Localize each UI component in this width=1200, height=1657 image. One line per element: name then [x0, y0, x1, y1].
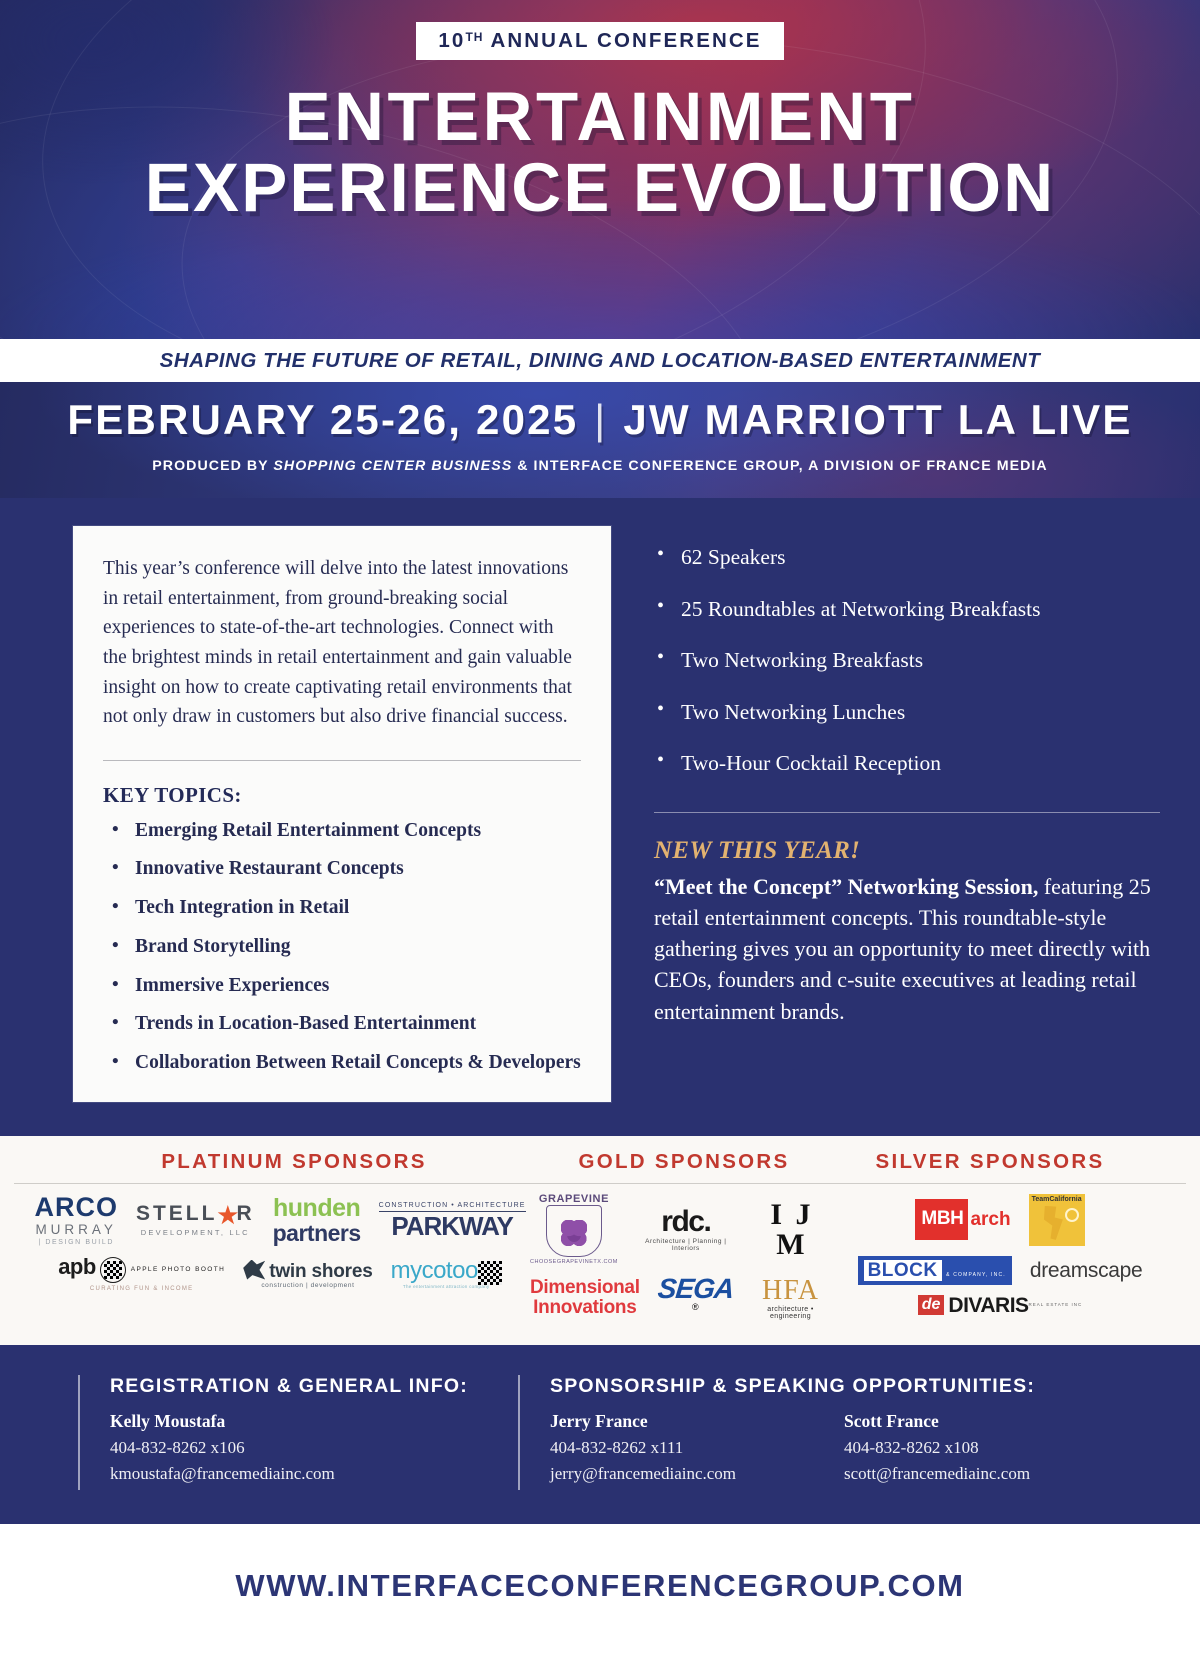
arco-logo-line1: ARCO — [34, 1194, 118, 1221]
twin-shores-mark-icon — [243, 1260, 265, 1280]
platinum-logo-row-2: apb APPLE PHOTO BOOTH CURATING FUN & INC… — [30, 1256, 530, 1292]
intro-card: This year’s conference will delve into t… — [73, 526, 611, 1102]
subtitle-bar: SHAPING THE FUTURE OF RETAIL, DINING AND… — [0, 339, 1200, 382]
key-topics-list: Emerging Retail Entertainment Concepts I… — [103, 818, 581, 1076]
list-item: Brand Storytelling — [103, 934, 581, 973]
contact-phone[interactable]: 404-832-8262 x111 — [550, 1438, 844, 1458]
badge-text: ANNUAL CONFERENCE — [483, 29, 761, 52]
footer-url-bar[interactable]: WWW.INTERFACECONFERENCEGROUP.COM — [0, 1524, 1200, 1644]
gold-sponsors-column: GRAPEVINE CHOOSEGRAPEVINETX.COM rdc. Arc… — [530, 1194, 830, 1331]
date-venue-separator: | — [578, 396, 623, 444]
silver-sponsors-column: MBHarch TeamCalifornia BLOCK — [830, 1194, 1170, 1331]
arco-murray-logo: ARCO MURRAY | DESIGN BUILD — [34, 1194, 118, 1247]
new-this-year-heading: NEW THIS YEAR! — [654, 837, 1160, 865]
apb-logo-subtext: APPLE PHOTO BOOTH — [131, 1266, 225, 1274]
contact-phone[interactable]: 404-832-8262 x106 — [110, 1438, 420, 1458]
silver-sponsors-heading: SILVER SPONSORS — [834, 1150, 1146, 1174]
grapevine-wordmark: GRAPEVINE — [530, 1194, 618, 1205]
produced-by-prefix: PRODUCED BY — [152, 458, 273, 474]
mbh-arch-logo: MBHarch — [915, 1199, 1010, 1240]
grapevine-crest-icon — [546, 1205, 602, 1257]
sponsorship-contact-block: SPONSORSHIP & SPEAKING OPPORTUNITIES: Je… — [518, 1375, 1138, 1490]
date-venue-line: FEBRUARY 25-26, 2025|JW MARRIOTT LA LIVE — [0, 382, 1200, 444]
gold-logo-row-1: GRAPEVINE CHOOSEGRAPEVINETX.COM rdc. Arc… — [530, 1194, 830, 1266]
hfa-wordmark: HFA — [751, 1277, 830, 1305]
contact-email[interactable]: jerry@francemediainc.com — [550, 1464, 844, 1484]
registration-heading: REGISTRATION & GENERAL INFO: — [110, 1375, 518, 1398]
block-tagline: & COMPANY, INC. — [946, 1272, 1006, 1278]
stellar-logo-text-a: STELL — [136, 1202, 218, 1225]
hfa-tagline: architecture • engineering — [751, 1306, 830, 1320]
sponsorship-heading: SPONSORSHIP & SPEAKING OPPORTUNITIES: — [550, 1375, 1138, 1398]
rdc-wordmark: rdc. — [636, 1207, 736, 1237]
list-item: Emerging Retail Entertainment Concepts — [103, 818, 581, 857]
platinum-sponsors-heading: PLATINUM SPONSORS — [54, 1150, 534, 1174]
divaris-logo: de DIVARIS REAL ESTATE INC — [918, 1295, 1082, 1316]
badge-ordinal-suffix: TH — [465, 30, 483, 44]
parkway-logo-tagline: CONSTRUCTION • ARCHITECTURE — [379, 1202, 526, 1209]
divaris-monogram: de — [918, 1295, 945, 1315]
qr-code-icon — [100, 1257, 126, 1283]
apb-logo-wordmark: apb — [58, 1254, 96, 1279]
list-item: 25 Roundtables at Networking Breakfasts — [648, 596, 1160, 648]
dimensional-line1: Dimensional — [530, 1278, 640, 1298]
silver-logo-row-2: BLOCK & COMPANY, INC. dreamscape — [830, 1256, 1170, 1285]
stellar-logo-text-b: R — [236, 1202, 254, 1225]
mbh-arch-wordmark: arch — [970, 1210, 1010, 1229]
mycotoo-tagline: The entertainment attraction company — [391, 1285, 502, 1290]
list-item: Two Networking Lunches — [648, 699, 1160, 751]
mycotoo-logo: mycotoo The entertainment attraction com… — [391, 1259, 502, 1290]
dreamscape-wordmark: dreamscape — [1030, 1260, 1143, 1281]
twin-shores-logo-main: twin shores — [243, 1260, 372, 1281]
contact-name: Jerry France — [550, 1411, 844, 1432]
hero-banner: 10TH ANNUAL CONFERENCE ENTERTAINMENT EXP… — [0, 0, 1200, 339]
list-item: Two Networking Breakfasts — [648, 647, 1160, 699]
page-title: ENTERTAINMENT EXPERIENCE EVOLUTION — [0, 84, 1200, 221]
contact-email[interactable]: kmoustafa@francemediainc.com — [110, 1464, 420, 1484]
grapevine-logo: GRAPEVINE CHOOSEGRAPEVINETX.COM — [530, 1194, 618, 1266]
parkway-logo: CONSTRUCTION • ARCHITECTURE PARKWAY — [379, 1202, 526, 1239]
hfa-logo: HFA architecture • engineering — [751, 1277, 830, 1320]
list-item: Two-Hour Cocktail Reception — [648, 750, 1160, 802]
teamcalifornia-badge: TeamCalifornia — [1029, 1194, 1085, 1246]
sega-wordmark: SEGA — [656, 1275, 734, 1303]
dimensional-innovations-logo: Dimensional Innovations — [530, 1278, 640, 1318]
key-topics-heading: KEY TOPICS: — [103, 783, 581, 808]
sponsors-divider — [14, 1183, 1186, 1184]
arco-logo-line2: MURRAY — [34, 1223, 118, 1237]
mbh-block-wordmark: MBH — [915, 1199, 968, 1240]
subtitle-text: SHAPING THE FUTURE OF RETAIL, DINING AND… — [160, 349, 1041, 372]
contact-section: REGISTRATION & GENERAL INFO: Kelly Moust… — [0, 1345, 1200, 1524]
dreamscape-logo: dreamscape — [1030, 1260, 1143, 1281]
dimensional-line2: Innovations — [530, 1298, 640, 1318]
rdc-logo: rdc. Architecture | Planning | Interiors — [636, 1207, 736, 1252]
star-icon: ★ — [217, 1207, 236, 1226]
title-line-1: ENTERTAINMENT — [0, 84, 1200, 150]
divaris-wordmark: DIVARIS — [948, 1295, 1028, 1316]
highlights-divider — [654, 812, 1160, 813]
platinum-sponsors-column: ARCO MURRAY | DESIGN BUILD STELL★R DEVEL… — [30, 1194, 530, 1331]
contact-person: Kelly Moustafa 404-832-8262 x106 kmousta… — [110, 1411, 420, 1490]
sponsors-section: PLATINUM SPONSORS GOLD SPONSORS SILVER S… — [0, 1136, 1200, 1345]
highlights-list: 62 Speakers 25 Roundtables at Networking… — [648, 544, 1160, 802]
teamcalifornia-logo: TeamCalifornia — [1029, 1194, 1085, 1246]
divaris-tagline: REAL ESTATE INC — [1029, 1303, 1083, 1308]
grapes-icon — [561, 1220, 587, 1246]
list-item: Innovative Restaurant Concepts — [103, 856, 581, 895]
title-line-2: EXPERIENCE EVOLUTION — [0, 155, 1200, 221]
contact-phone[interactable]: 404-832-8262 x108 — [844, 1438, 1138, 1458]
stellar-development-logo: STELL★R DEVELOPMENT, LLC — [136, 1203, 255, 1237]
conference-venue: JW MARRIOTT LA LIVE — [623, 396, 1132, 443]
qr-pattern — [104, 1261, 122, 1279]
stellar-logo-wordmark: STELL★R — [136, 1203, 255, 1226]
produced-by-line: PRODUCED BY SHOPPING CENTER BUSINESS & I… — [0, 458, 1200, 474]
list-item: 62 Speakers — [648, 544, 1160, 596]
main-content: This year’s conference will delve into t… — [0, 498, 1200, 1136]
grapevine-url: CHOOSEGRAPEVINETX.COM — [530, 1260, 618, 1266]
apb-logo-tagline: CURATING FUN & INCOME — [58, 1286, 225, 1292]
contact-email[interactable]: scott@francemediainc.com — [844, 1464, 1138, 1484]
website-url[interactable]: WWW.INTERFACECONFERENCEGROUP.COM — [235, 1568, 964, 1603]
registration-contact-block: REGISTRATION & GENERAL INFO: Kelly Moust… — [78, 1375, 518, 1490]
block-wordmark: BLOCK — [864, 1260, 942, 1281]
highlights-column: 62 Speakers 25 Roundtables at Networking… — [648, 526, 1160, 1027]
intro-paragraph: This year’s conference will delve into t… — [103, 554, 581, 732]
platinum-logo-row-1: ARCO MURRAY | DESIGN BUILD STELL★R DEVEL… — [30, 1194, 530, 1247]
produced-by-suffix: & INTERFACE CONFERENCE GROUP, A DIVISION… — [512, 458, 1047, 474]
stellar-logo-tagline: DEVELOPMENT, LLC — [136, 1229, 255, 1237]
conference-flyer: 10TH ANNUAL CONFERENCE ENTERTAINMENT EXP… — [0, 0, 1200, 1657]
annual-conference-badge: 10TH ANNUAL CONFERENCE — [416, 22, 783, 60]
arco-logo-tagline: | DESIGN BUILD — [34, 1239, 118, 1246]
ijm-wordmark: I J M — [754, 1200, 830, 1260]
list-item: Trends in Location-Based Entertainment — [103, 1011, 581, 1050]
produced-by-publication: SHOPPING CENTER BUSINESS — [273, 458, 512, 474]
rdc-tagline: Architecture | Planning | Interiors — [636, 1239, 736, 1252]
hunden-logo-line1: hunden — [273, 1196, 361, 1221]
contact-person: Jerry France 404-832-8262 x111 jerry@fra… — [550, 1411, 844, 1490]
new-this-year-lead: “Meet the Concept” Networking Session, — [654, 874, 1038, 899]
contact-person: Scott France 404-832-8262 x108 scott@fra… — [844, 1411, 1138, 1490]
apple-photo-booth-logo: apb APPLE PHOTO BOOTH CURATING FUN & INC… — [58, 1256, 225, 1292]
hunden-partners-logo: hunden partners — [273, 1196, 361, 1245]
ijm-logo: I J M — [754, 1200, 830, 1260]
conference-dates: FEBRUARY 25-26, 2025 — [67, 396, 578, 443]
apb-logo-main: apb APPLE PHOTO BOOTH — [58, 1256, 225, 1283]
contact-name: Kelly Moustafa — [110, 1411, 420, 1432]
ring-icon — [1065, 1208, 1079, 1222]
date-venue-band: FEBRUARY 25-26, 2025|JW MARRIOTT LA LIVE… — [0, 382, 1200, 498]
block-badge: BLOCK & COMPANY, INC. — [858, 1256, 1012, 1285]
badge-number: 10 — [438, 29, 465, 52]
contact-name: Scott France — [844, 1411, 1138, 1432]
silver-logo-row-1: MBHarch TeamCalifornia — [830, 1194, 1170, 1246]
block-company-logo: BLOCK & COMPANY, INC. — [858, 1256, 1012, 1285]
california-state-icon — [1043, 1206, 1065, 1240]
list-item: Immersive Experiences — [103, 973, 581, 1012]
parkway-logo-wordmark: PARKWAY — [379, 1213, 526, 1239]
twin-shores-tagline: construction | development — [243, 1283, 372, 1290]
qr-code-icon — [478, 1261, 502, 1285]
mycotoo-wordmark: mycotoo — [391, 1257, 478, 1284]
list-item: Collaboration Between Retail Concepts & … — [103, 1050, 581, 1076]
card-divider — [103, 760, 581, 761]
new-this-year-body: “Meet the Concept” Networking Session, f… — [654, 871, 1160, 1027]
gold-logo-row-2: Dimensional Innovations SEGA® HFA archit… — [530, 1275, 830, 1320]
twin-shores-wordmark: twin shores — [269, 1261, 372, 1282]
teamcalifornia-wordmark: TeamCalifornia — [1029, 1196, 1085, 1203]
silver-logo-row-3: de DIVARIS REAL ESTATE INC — [830, 1295, 1170, 1316]
twin-shores-logo: twin shores construction | development — [243, 1260, 372, 1290]
sega-logo: SEGA® — [658, 1275, 733, 1320]
mycotoo-logo-main: mycotoo — [391, 1259, 502, 1286]
list-item: Tech Integration in Retail — [103, 895, 581, 934]
gold-sponsors-heading: GOLD SPONSORS — [534, 1150, 834, 1174]
hunden-logo-line2: partners — [273, 1222, 361, 1245]
